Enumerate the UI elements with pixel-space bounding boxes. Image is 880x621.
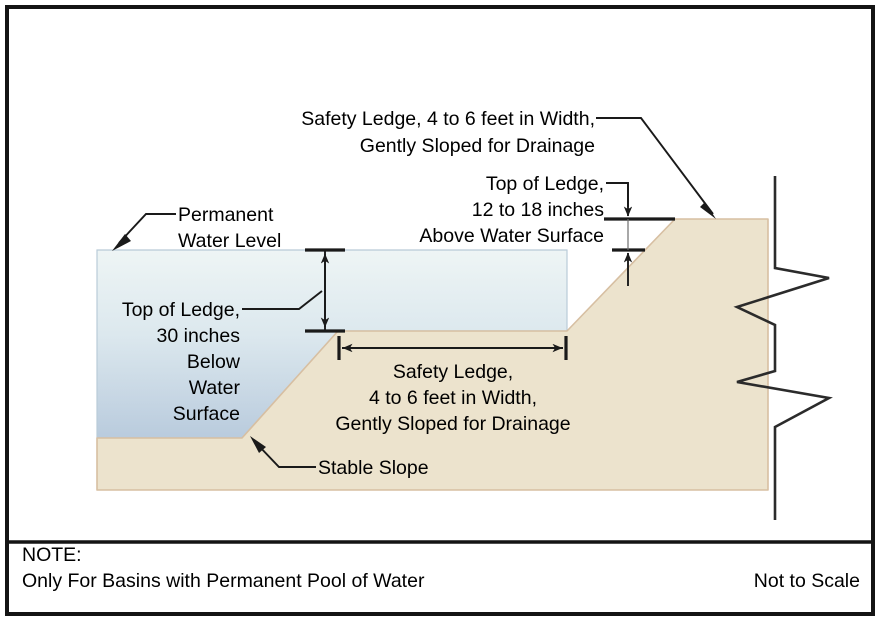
permanent-water-level-line1: Permanent bbox=[178, 204, 274, 226]
below-label-line2: 30 inches bbox=[157, 325, 241, 347]
permanent-water-level-line2: Water Level bbox=[178, 230, 281, 252]
cross-section-diagram: Safety Ledge, 4 to 6 feet in Width, Gent… bbox=[0, 0, 880, 621]
below-label-line5: Surface bbox=[173, 403, 240, 425]
top-callout-line1: Safety Ledge, 4 to 6 feet in Width, bbox=[301, 108, 595, 130]
top-callout-line2: Gently Sloped for Drainage bbox=[360, 135, 595, 157]
stable-slope-label: Stable Slope bbox=[318, 457, 429, 479]
above-label-line1: Top of Ledge, bbox=[486, 173, 604, 195]
below-label-line4: Water bbox=[189, 377, 241, 399]
above-label-leader bbox=[606, 183, 628, 207]
permanent-water-level-arrowhead bbox=[112, 234, 131, 251]
below-label-line1: Top of Ledge, bbox=[122, 299, 240, 321]
top-callout-leader bbox=[596, 118, 713, 214]
below-label-line3: Below bbox=[187, 351, 241, 373]
ledge-dim-line3: Gently Sloped for Drainage bbox=[335, 413, 570, 435]
top-callout-arrowhead bbox=[700, 202, 716, 219]
ledge-dim-line2: 4 to 6 feet in Width, bbox=[369, 387, 537, 409]
diagram-page: Safety Ledge, 4 to 6 feet in Width, Gent… bbox=[0, 0, 880, 621]
above-label-line3: Above Water Surface bbox=[419, 225, 604, 247]
permanent-water-level-callout: Permanent Water Level bbox=[112, 204, 281, 252]
ledge-dim-line1: Safety Ledge, bbox=[393, 361, 513, 383]
above-label-line2: 12 to 18 inches bbox=[472, 199, 605, 221]
